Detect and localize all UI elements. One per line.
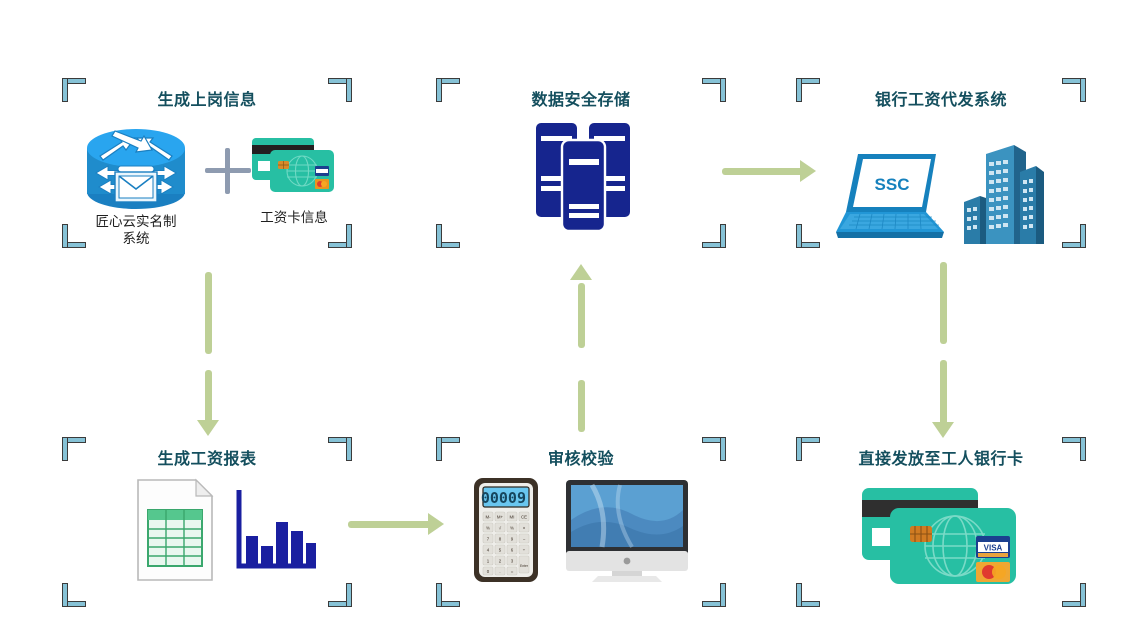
calculator-icon: 00009 M-M+MICE %√%× 789− 456÷	[474, 478, 538, 587]
panel-6-title: 直接发放至工人银行卡	[796, 445, 1086, 469]
svg-text:%: %	[486, 526, 490, 531]
bracket-bottom-right-icon	[702, 583, 726, 607]
svg-text:=: =	[511, 569, 514, 574]
svg-text:MI: MI	[510, 515, 515, 520]
spreadsheet-document-icon	[136, 478, 216, 587]
svg-text:.: .	[499, 569, 500, 574]
bracket-bottom-left-icon	[436, 583, 460, 607]
bank-cards-icon: VISA	[862, 488, 1022, 595]
panel-1-sublabel-system: 匠心云实名制 系统	[66, 214, 206, 248]
router-cloud-mail-icon	[78, 114, 194, 219]
plus-sign-icon	[205, 148, 251, 194]
svg-text:Enter: Enter	[520, 564, 529, 568]
bracket-bottom-right-icon	[1062, 583, 1086, 607]
panel-5-title: 审核校验	[436, 445, 726, 469]
laptop-screen-text: SSC	[875, 175, 910, 194]
calculator-display-value: 00009	[481, 489, 526, 507]
desktop-monitor-icon	[562, 480, 692, 587]
panel-2-title: 数据安全存储	[436, 86, 726, 110]
svg-text:×: ×	[523, 526, 526, 531]
bracket-bottom-left-icon	[796, 583, 820, 607]
bracket-bottom-right-icon	[1062, 224, 1086, 248]
credit-cards-icon	[252, 138, 336, 205]
svg-text:CE: CE	[521, 515, 527, 520]
bracket-bottom-right-icon	[328, 224, 352, 248]
laptop-ssc-icon: SSC	[836, 148, 948, 249]
panel-1-title: 生成上岗信息	[62, 86, 352, 110]
bracket-bottom-right-icon	[328, 583, 352, 607]
svg-text:−: −	[523, 537, 526, 542]
card-brand-text: VISA	[984, 544, 1003, 553]
panel-4-title: 生成工资报表	[62, 445, 352, 469]
office-buildings-icon	[962, 140, 1046, 253]
svg-text:M+: M+	[497, 515, 504, 520]
flow-diagram-canvas: 生成上岗信息 匠心云实名制 系统	[0, 0, 1143, 641]
bracket-bottom-right-icon	[702, 224, 726, 248]
bracket-bottom-left-icon	[796, 224, 820, 248]
panel-3-title: 银行工资代发系统	[796, 86, 1086, 110]
server-stack-icon	[533, 118, 633, 238]
panel-1-sublabel-card: 工资卡信息	[224, 210, 364, 227]
svg-text:M-: M-	[485, 515, 491, 520]
bracket-bottom-left-icon	[62, 583, 86, 607]
svg-text:%: %	[510, 526, 514, 531]
bracket-bottom-left-icon	[436, 224, 460, 248]
bar-chart-icon	[234, 486, 318, 577]
